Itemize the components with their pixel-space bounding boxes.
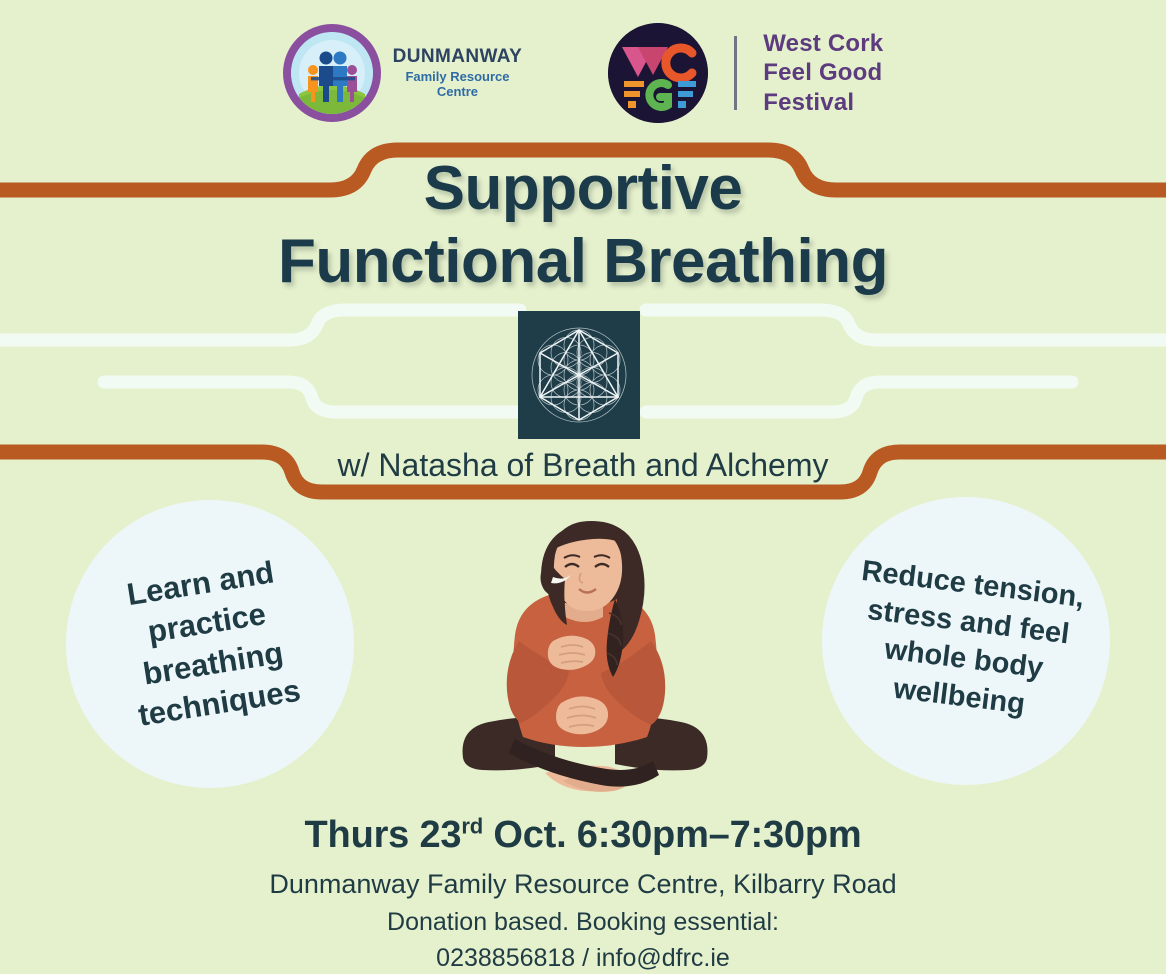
- event-contact: 0238856818 / info@dfrc.ie: [0, 940, 1166, 974]
- dunmanway-logo-line3: Centre: [437, 84, 478, 99]
- white-line-lower-right: [646, 382, 1072, 412]
- brand-mark: [518, 311, 640, 439]
- wcfgf-line2: Feel Good: [763, 58, 883, 87]
- event-datetime: Thurs 23rd Oct. 6:30pm–7:30pm: [0, 812, 1166, 860]
- wcfgf-mark-icon: [608, 23, 708, 123]
- woman-seated-breathing-illustration: [445, 515, 725, 815]
- benefit-bubble-left-text: Learn and practice breathing techniques: [74, 545, 346, 743]
- dunmanway-logo-line2: Family Resource: [405, 69, 509, 84]
- wcfgf-logo: West Cork Feel Good Festival: [608, 23, 883, 123]
- dunmanway-logo: DUNMANWAY Family Resource Centre: [283, 24, 523, 122]
- event-booking-note: Donation based. Booking essential:: [0, 904, 1166, 940]
- wcfgf-divider: [734, 36, 737, 110]
- poster-canvas: DUNMANWAY Family Resource Centre: [0, 0, 1166, 974]
- white-line-upper-right: [646, 310, 1166, 340]
- wcfgf-line1: West Cork: [763, 29, 883, 58]
- dunmanway-logo-ring: [283, 24, 381, 122]
- dunmanway-logo-disc: [291, 32, 373, 114]
- page-title-line2: Functional Breathing: [0, 225, 1166, 298]
- wcfgf-logo-text: West Cork Feel Good Festival: [763, 29, 883, 117]
- event-venue: Dunmanway Family Resource Centre, Kilbar…: [0, 864, 1166, 905]
- benefit-bubble-right-text: Reduce tension, stress and feel whole bo…: [828, 550, 1104, 731]
- event-date-prefix: Thurs 23: [305, 814, 462, 856]
- wcfgf-line3: Festival: [763, 88, 883, 117]
- event-date-ordinal: rd: [461, 813, 483, 838]
- white-line-lower-left: [104, 382, 520, 412]
- dunmanway-logo-text: DUNMANWAY Family Resource Centre: [393, 46, 523, 99]
- benefit-bubble-left: Learn and practice breathing techniques: [66, 500, 354, 788]
- page-title-line1: Supportive: [0, 152, 1166, 225]
- sacred-geometry-icon: [518, 311, 640, 439]
- presenter-line: w/ Natasha of Breath and Alchemy: [0, 447, 1166, 484]
- benefit-bubble-right: Reduce tension, stress and feel whole bo…: [822, 497, 1110, 785]
- dunmanway-logo-line1: DUNMANWAY: [393, 46, 523, 68]
- footer-details: Thurs 23rd Oct. 6:30pm–7:30pm Dunmanway …: [0, 812, 1166, 974]
- page-title: Supportive Functional Breathing: [0, 152, 1166, 298]
- family-figures-icon: [291, 32, 373, 114]
- logo-row: DUNMANWAY Family Resource Centre: [0, 18, 1166, 128]
- event-date-suffix: Oct. 6:30pm–7:30pm: [483, 814, 861, 856]
- white-line-upper-left: [0, 310, 520, 340]
